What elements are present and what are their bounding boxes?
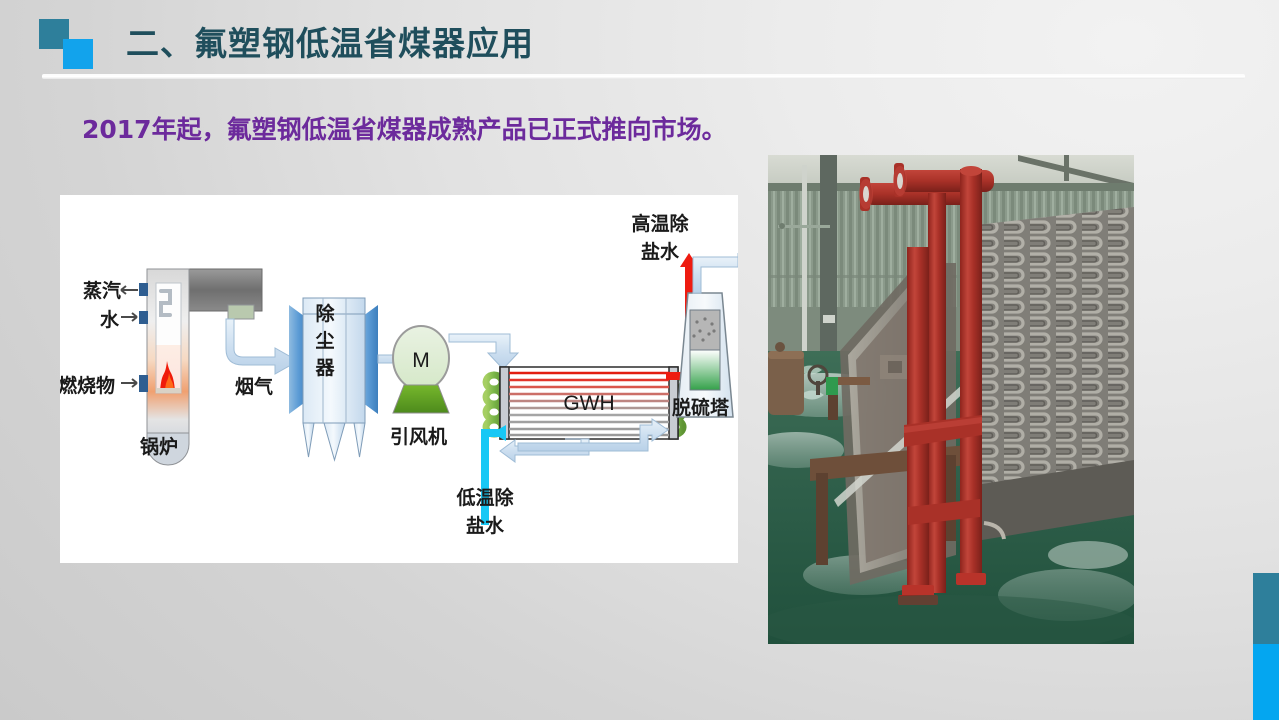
process-flow-diagram: 蒸汽 水 燃烧物 锅炉 烟气 除 尘 器 <box>60 195 738 563</box>
duct-boiler-to-collector <box>226 319 298 374</box>
label-water: 水 <box>100 309 120 331</box>
label-steam: 蒸汽 <box>83 279 121 302</box>
label-dustcollector-2: 尘 <box>315 330 334 352</box>
label-desulfur-tower: 脱硫塔 <box>672 396 730 419</box>
label-boiler: 锅炉 <box>140 435 178 458</box>
title-divider <box>42 74 1245 79</box>
label-fan: 引风机 <box>390 426 447 448</box>
label-hot-demin-1: 高温除 <box>631 212 689 235</box>
label-hot-demin-2: 盐水 <box>641 240 680 263</box>
label-dustcollector-3: 器 <box>314 357 335 379</box>
label-fluegas: 烟气 <box>235 375 273 398</box>
decoration-square-bottom <box>63 39 93 69</box>
photo-illustration <box>768 155 1134 644</box>
process-diagram-panel: 蒸汽 水 燃烧物 锅炉 烟气 除 尘 器 <box>60 195 738 563</box>
right-accent-bar <box>1253 573 1279 720</box>
label-cold-demin-1: 低温除 <box>455 486 514 509</box>
duct-fan-to-exchanger <box>449 334 518 369</box>
tube-bundle <box>976 207 1134 541</box>
exchanger-label: GWH <box>563 392 614 415</box>
accent-bar-top <box>1253 573 1279 644</box>
label-fuel: 燃烧物 <box>60 374 115 397</box>
equipment-photo <box>768 155 1134 644</box>
label-dustcollector-1: 除 <box>315 302 335 325</box>
induced-draft-fan: M <box>393 326 449 413</box>
subtitle-text: 2017年起，氟塑钢低温省煤器成熟产品已正式推向市场。 <box>82 110 727 146</box>
slide-canvas: 二、氟塑钢低温省煤器应用 2017年起，氟塑钢低温省煤器成熟产品已正式推向市场。 <box>0 0 1279 720</box>
cold-demin-water-line <box>485 419 506 525</box>
slide-header: 二、氟塑钢低温省煤器应用 <box>0 0 1279 86</box>
page-title: 二、氟塑钢低温省煤器应用 <box>126 17 534 65</box>
background-tank <box>768 342 804 415</box>
label-cold-demin-2: 盐水 <box>466 514 505 537</box>
fan-symbol-label: M <box>412 349 430 372</box>
accent-bar-bottom <box>1253 644 1279 720</box>
